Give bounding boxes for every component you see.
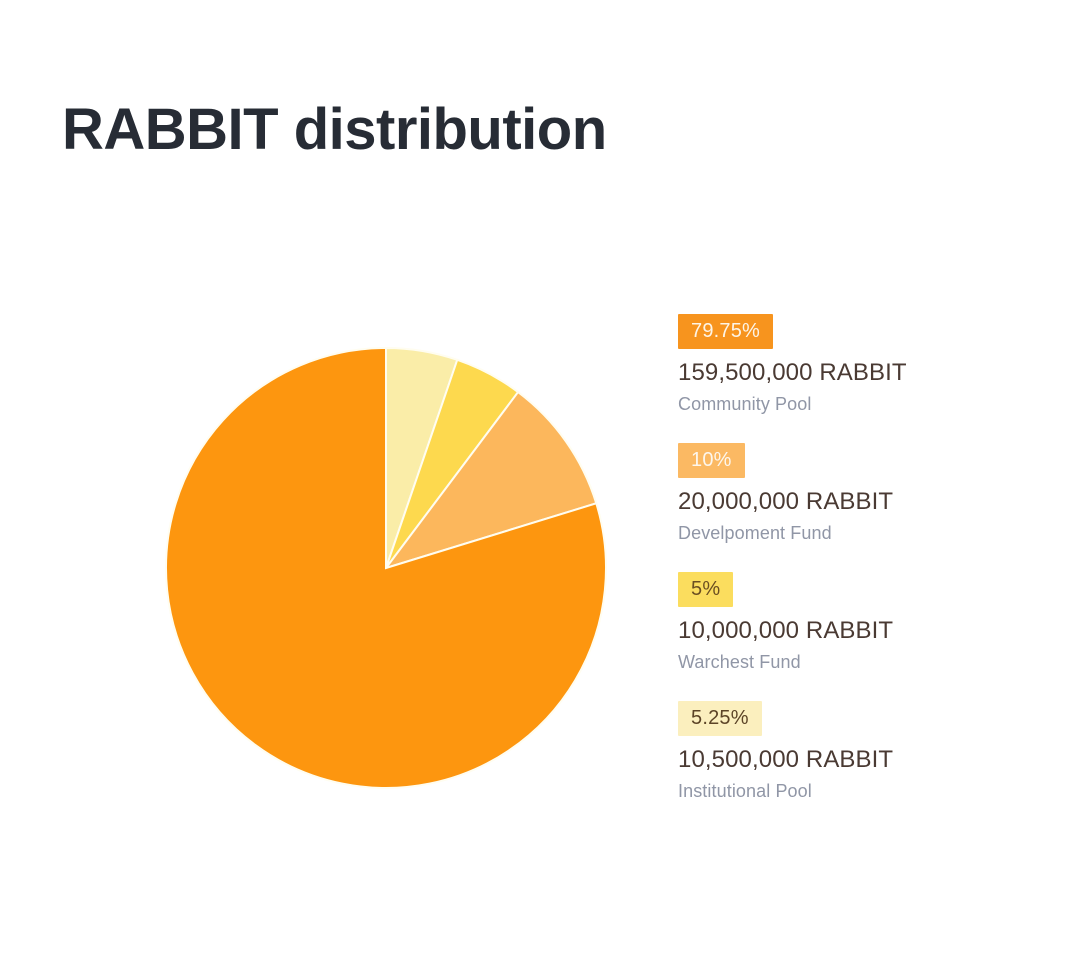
pie-chart-svg <box>166 348 606 788</box>
legend-amount: 10,000,000 RABBIT <box>678 616 1008 646</box>
chart-legend: 79.75% 159,500,000 RABBIT Community Pool… <box>678 314 1008 804</box>
legend-percent-badge: 5.25% <box>678 701 762 736</box>
legend-item[interactable]: 5.25% 10,500,000 RABBIT Institutional Po… <box>678 701 1008 804</box>
legend-item[interactable]: 5% 10,000,000 RABBIT Warchest Fund <box>678 572 1008 675</box>
legend-item[interactable]: 79.75% 159,500,000 RABBIT Community Pool <box>678 314 1008 417</box>
pie-slice-group <box>166 348 606 788</box>
legend-label: Community Pool <box>678 391 1008 417</box>
legend-amount: 10,500,000 RABBIT <box>678 745 1008 775</box>
legend-amount: 159,500,000 RABBIT <box>678 358 1008 388</box>
legend-percent-badge: 79.75% <box>678 314 773 349</box>
legend-label: Warchest Fund <box>678 649 1008 675</box>
legend-amount: 20,000,000 RABBIT <box>678 487 1008 517</box>
legend-percent-badge: 5% <box>678 572 733 607</box>
legend-label: Develpoment Fund <box>678 520 1008 546</box>
legend-item[interactable]: 10% 20,000,000 RABBIT Develpoment Fund <box>678 443 1008 546</box>
pie-chart <box>166 348 606 788</box>
legend-label: Institutional Pool <box>678 778 1008 804</box>
legend-percent-badge: 10% <box>678 443 745 478</box>
page-title: RABBIT distribution <box>62 97 607 164</box>
